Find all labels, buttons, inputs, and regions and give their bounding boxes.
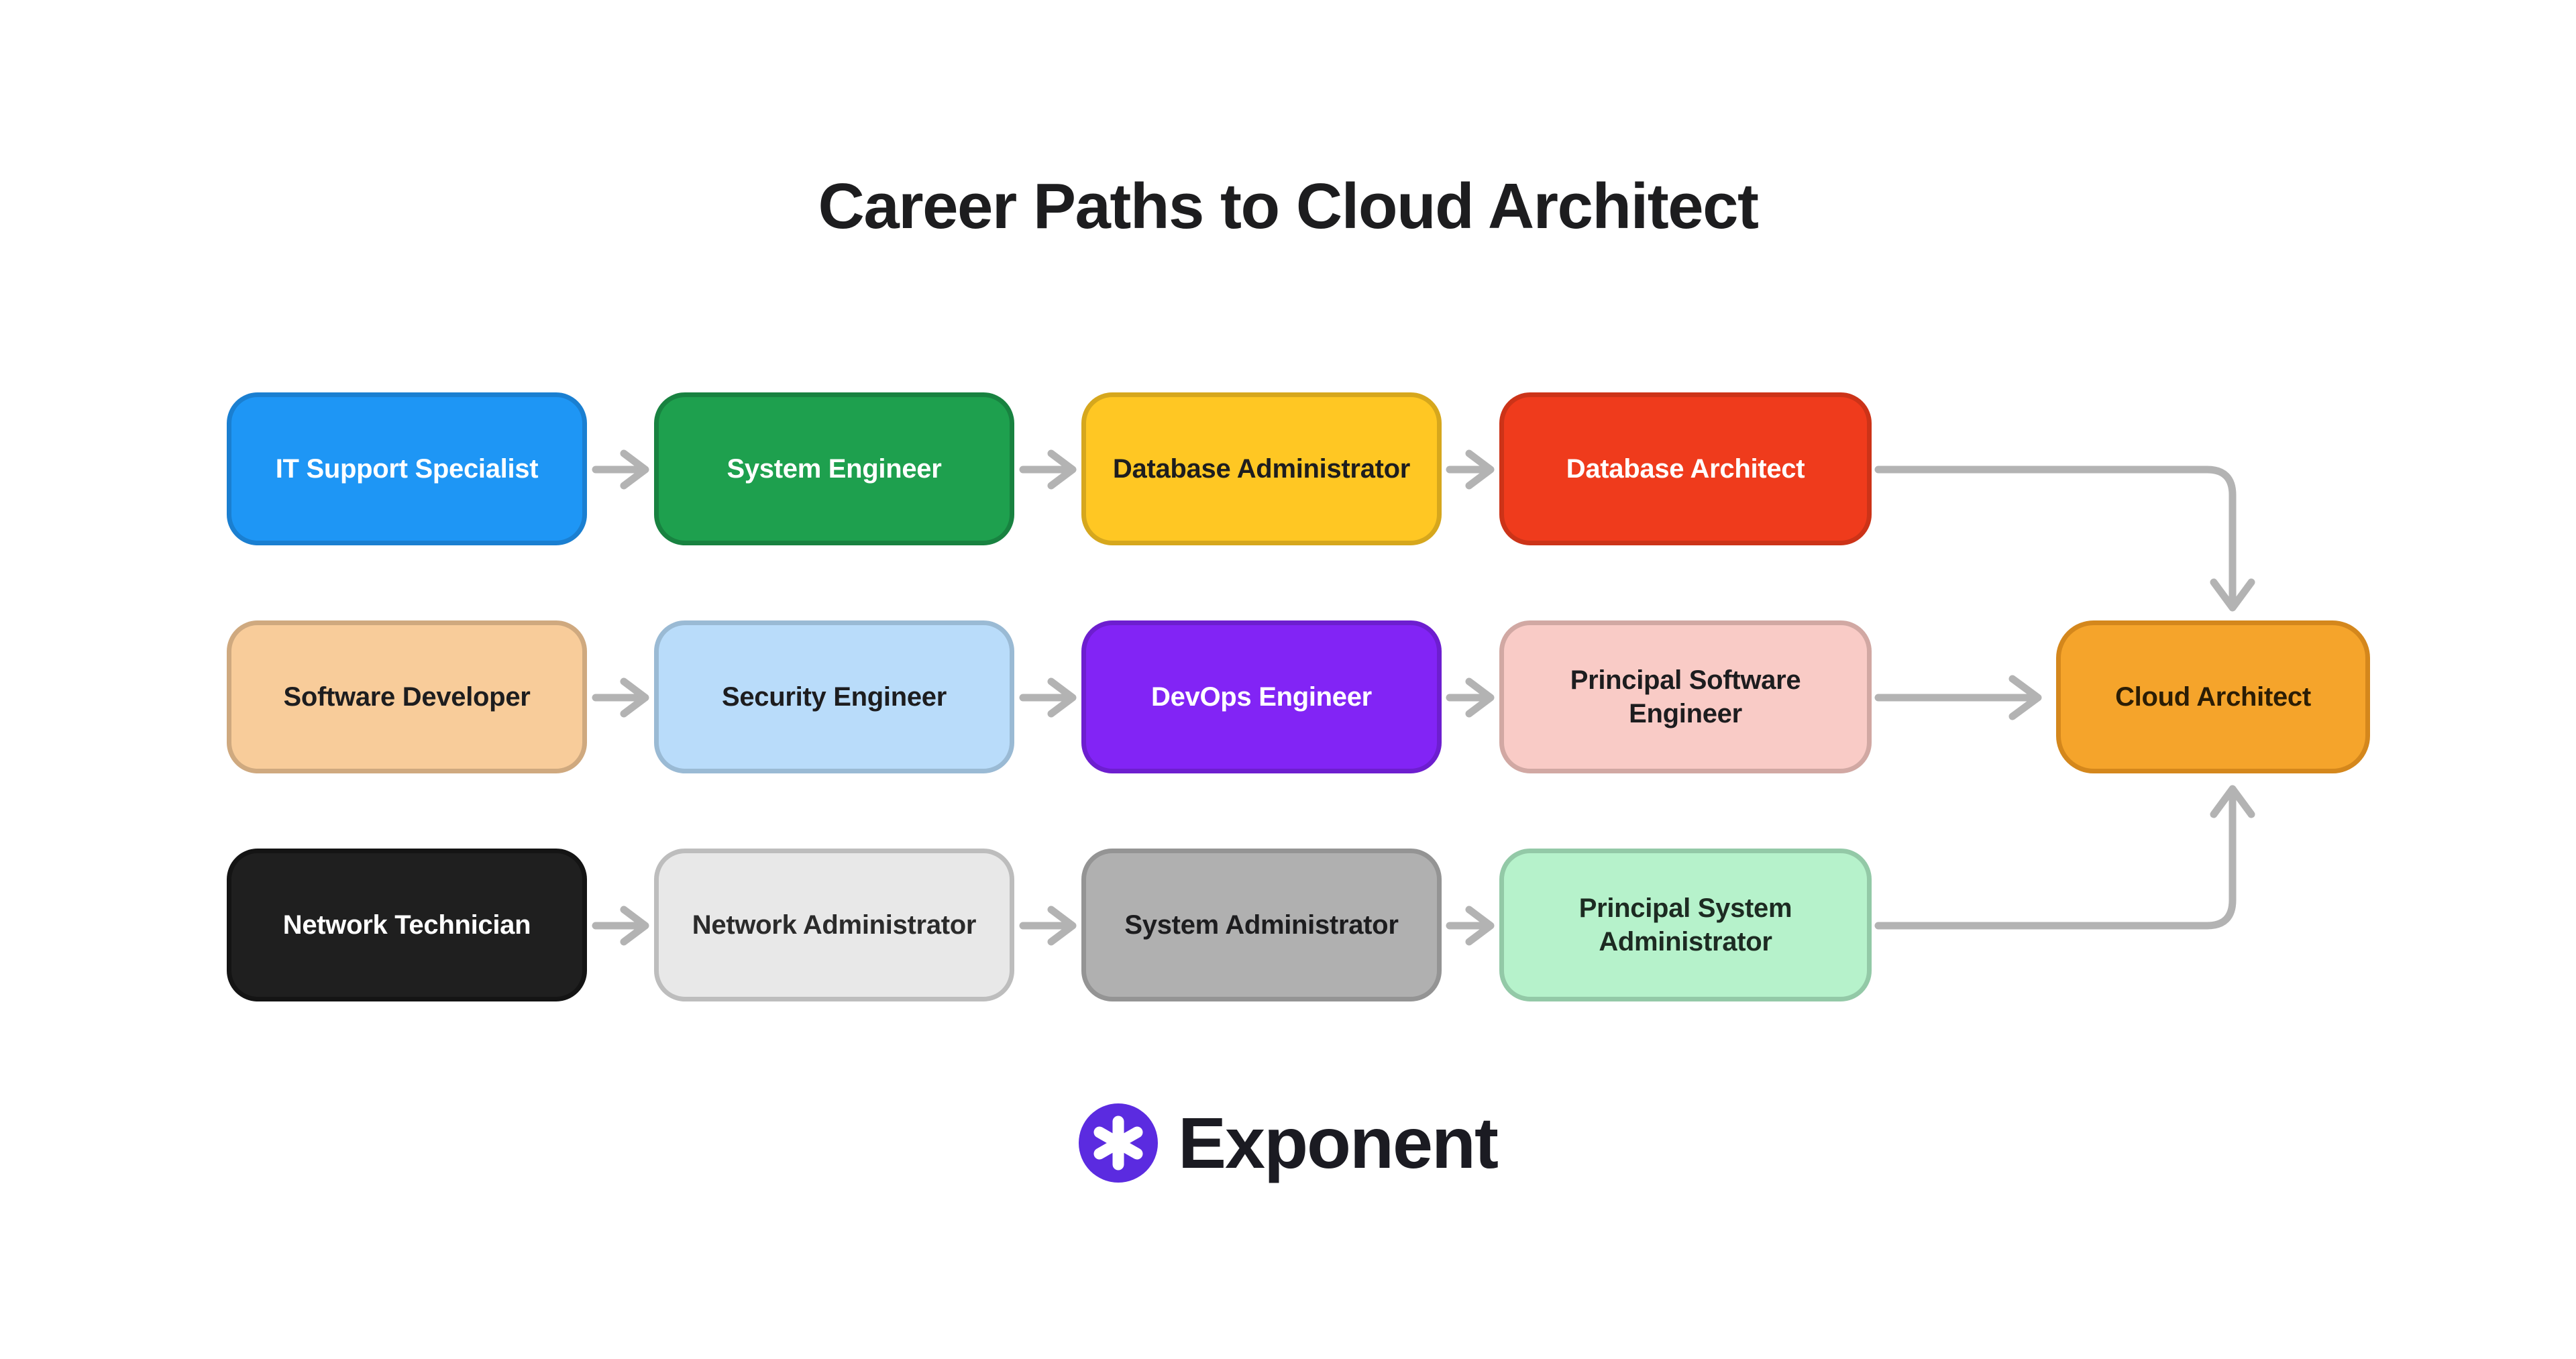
arrow-r2-c2-c3 — [1023, 682, 1073, 714]
node-devops-engineer[interactable]: DevOps Engineer — [1081, 620, 1442, 773]
node-it-support-specialist[interactable]: IT Support Specialist — [227, 392, 587, 545]
node-system-administrator[interactable]: System Administrator — [1081, 849, 1442, 1001]
merge-arrow-track1 — [1878, 470, 2251, 608]
merge-arrow-track2 — [1878, 679, 2038, 716]
node-network-administrator[interactable]: Network Administrator — [654, 849, 1014, 1001]
arrow-r3-c2-c3 — [1023, 910, 1073, 942]
node-security-engineer[interactable]: Security Engineer — [654, 620, 1014, 773]
asterisk-icon — [1079, 1103, 1158, 1183]
arrow-r1-c3-c4 — [1450, 453, 1491, 486]
node-system-engineer[interactable]: System Engineer — [654, 392, 1014, 545]
node-network-technician[interactable]: Network Technician — [227, 849, 587, 1001]
exponent-wordmark: Exponent — [1178, 1107, 1497, 1179]
arrow-r2-c3-c4 — [1450, 682, 1491, 714]
node-database-architect[interactable]: Database Architect — [1499, 392, 1872, 545]
page-title: Career Paths to Cloud Architect — [0, 171, 2576, 242]
arrow-r3-c1-c2 — [596, 910, 645, 942]
arrow-r3-c3-c4 — [1450, 910, 1491, 942]
node-principal-system-administrator[interactable]: Principal System Administrator — [1499, 849, 1872, 1001]
node-software-developer[interactable]: Software Developer — [227, 620, 587, 773]
node-cloud-architect[interactable]: Cloud Architect — [2056, 620, 2370, 773]
merge-arrow-track3 — [1878, 789, 2251, 926]
arrow-r1-c1-c2 — [596, 453, 645, 486]
arrow-r2-c1-c2 — [596, 682, 645, 714]
arrow-r1-c2-c3 — [1023, 453, 1073, 486]
node-database-administrator[interactable]: Database Administrator — [1081, 392, 1442, 545]
node-principal-software-engineer[interactable]: Principal Software Engineer — [1499, 620, 1872, 773]
diagram-canvas: Career Paths to Cloud Architect — [0, 0, 2576, 1359]
exponent-logo: Exponent — [0, 1103, 2576, 1183]
